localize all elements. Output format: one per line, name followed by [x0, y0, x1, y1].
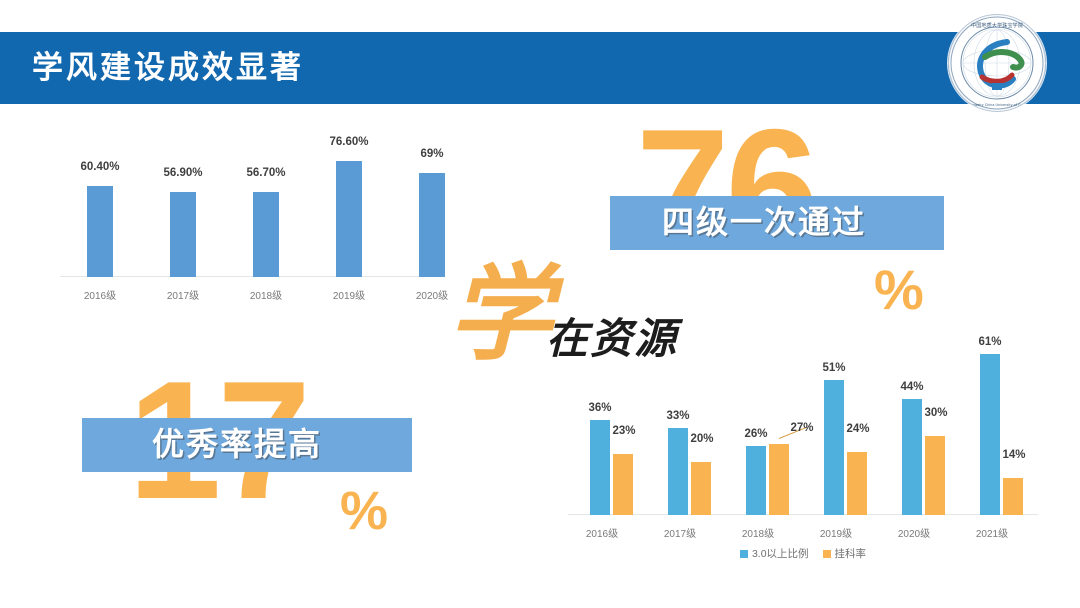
bar-value-label: 56.70%: [231, 167, 301, 179]
bar-fail: [925, 436, 945, 515]
legend-label: 挂科率: [835, 546, 867, 561]
bar-gpa: [824, 380, 844, 515]
bar-value-label: 69%: [397, 148, 467, 160]
x-axis: [60, 276, 440, 277]
x-tick-label: 2016级: [572, 525, 632, 540]
bar-fail: [769, 444, 789, 515]
callout-band-label: 优秀率提高: [152, 428, 322, 460]
callout-band-label: 四级一次通过: [662, 206, 866, 238]
chart-gpa-and-fail-rate: 36% 33% 26% 51% 44% 61% 23% 20% 27% 24% …: [568, 330, 1038, 570]
page-title: 学风建设成效显著: [32, 46, 304, 90]
x-axis: [568, 514, 1038, 515]
legend-swatch-icon: [823, 550, 831, 558]
bar-value-label: 23%: [594, 425, 654, 437]
plot-area: 60.40% 56.90% 56.70% 76.60% 69%: [60, 125, 440, 277]
bar-value-label: 51%: [804, 362, 864, 374]
bar-fail: [691, 462, 711, 515]
x-tick-label: 2016级: [65, 287, 135, 302]
bar-value-label: 30%: [906, 407, 966, 419]
x-tick-label: 2019级: [806, 525, 866, 540]
plot-area: 36% 33% 26% 51% 44% 61% 23% 20% 27% 24% …: [568, 330, 1038, 515]
bar: [419, 173, 445, 277]
bar-value-label: 27%: [772, 422, 832, 434]
bar-fail: [847, 452, 867, 515]
bar-value-label: 60.40%: [65, 161, 135, 173]
bar-value-label: 44%: [882, 381, 942, 393]
bar: [170, 192, 196, 277]
bar-value-label: 20%: [672, 433, 732, 445]
bar: [87, 186, 113, 277]
bar-value-label: 14%: [984, 449, 1044, 461]
legend-item-gpa[interactable]: 3.0以上比例: [740, 546, 809, 561]
calligraphy-big-char: 学: [448, 262, 552, 366]
x-tick-label: 2020级: [884, 525, 944, 540]
x-tick-label: 2018级: [231, 287, 301, 302]
bar: [253, 192, 279, 277]
bar-gpa: [746, 446, 766, 515]
legend-item-fail[interactable]: 挂科率: [823, 546, 867, 561]
svg-text:中国地质大学珠宝学院: 中国地质大学珠宝学院: [971, 21, 1024, 29]
x-tick-label: 2018级: [728, 525, 788, 540]
legend-label: 3.0以上比例: [752, 546, 809, 561]
callout-percent-symbol: %: [874, 262, 924, 318]
bar-value-label: 61%: [960, 336, 1020, 348]
bar: [336, 161, 362, 277]
bar-value-label: 76.60%: [314, 136, 384, 148]
x-tick-label: 2017级: [148, 287, 218, 302]
bar-gpa: [980, 354, 1000, 515]
legend-swatch-icon: [740, 550, 748, 558]
x-tick-label: 2019级: [314, 287, 384, 302]
bar-fail: [613, 454, 633, 515]
bar-value-label: 36%: [570, 402, 630, 414]
bar-value-label: 33%: [648, 410, 708, 422]
chart-cet-pass-rate: 60.40% 56.90% 56.70% 76.60% 69% 2016级 20…: [60, 125, 440, 305]
x-tick-label: 2021级: [962, 525, 1022, 540]
bar-value-label: 56.90%: [148, 167, 218, 179]
slide-canvas: 学风建设成效显著 中国地质大学珠宝学院 School of Jewelry Ch…: [0, 0, 1080, 608]
x-tick-label: 2017级: [650, 525, 710, 540]
chart-legend: 3.0以上比例 挂科率: [568, 546, 1038, 561]
university-logo-icon: 中国地质大学珠宝学院 School of Jewelry China Unive…: [948, 14, 1046, 112]
bar-value-label: 24%: [828, 423, 888, 435]
bar-fail: [1003, 478, 1023, 515]
callout-percent-symbol: %: [340, 484, 388, 538]
